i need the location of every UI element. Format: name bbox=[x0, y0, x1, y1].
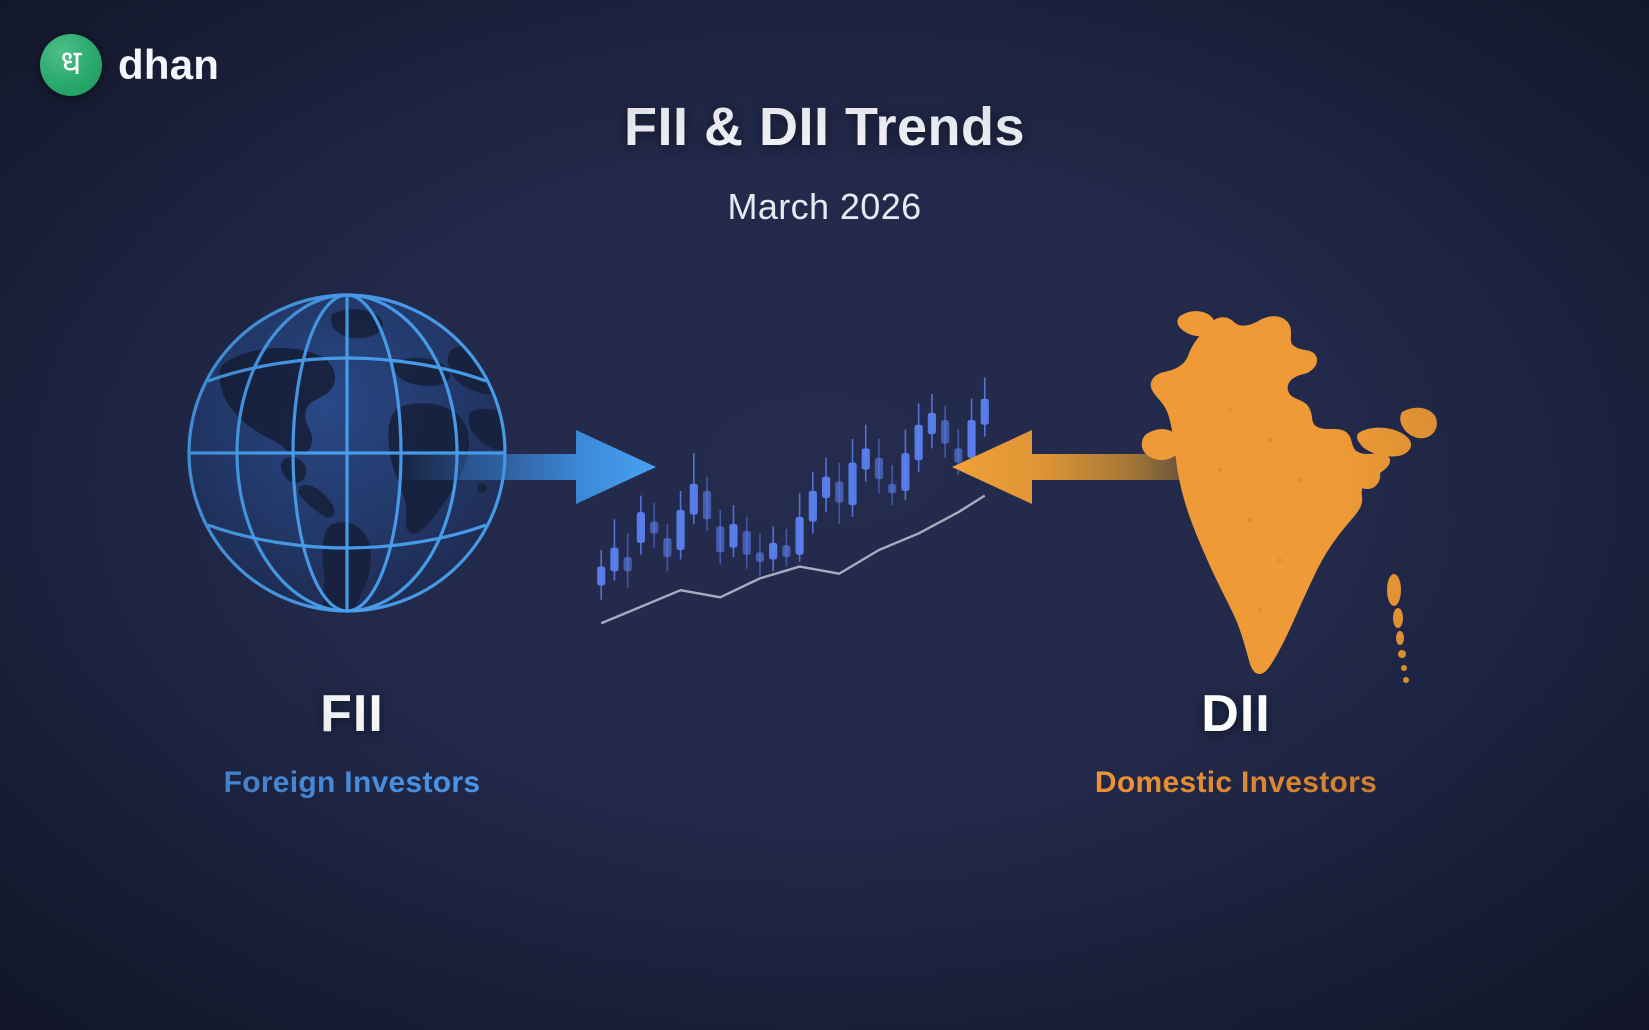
brand-logo[interactable]: ध dhan bbox=[40, 34, 219, 96]
page-subtitle: March 2026 bbox=[0, 186, 1649, 228]
dii-label-group: DII Domestic Investors bbox=[1026, 684, 1446, 800]
fii-label-group: FII Foreign Investors bbox=[142, 684, 562, 800]
india-map-icon bbox=[1110, 290, 1440, 700]
dhan-logo-icon: ध bbox=[40, 34, 102, 96]
dii-abbr: DII bbox=[1026, 684, 1446, 744]
fii-description: Foreign Investors bbox=[142, 766, 562, 800]
fii-abbr: FII bbox=[142, 684, 562, 744]
candlestick-chart bbox=[578, 360, 1008, 650]
infographic-canvas: ध dhan FII & DII Trends March 2026 bbox=[0, 0, 1649, 1030]
dii-description: Domestic Investors bbox=[1026, 766, 1446, 800]
page-title: FII & DII Trends bbox=[0, 96, 1649, 158]
brand-name: dhan bbox=[118, 41, 219, 89]
